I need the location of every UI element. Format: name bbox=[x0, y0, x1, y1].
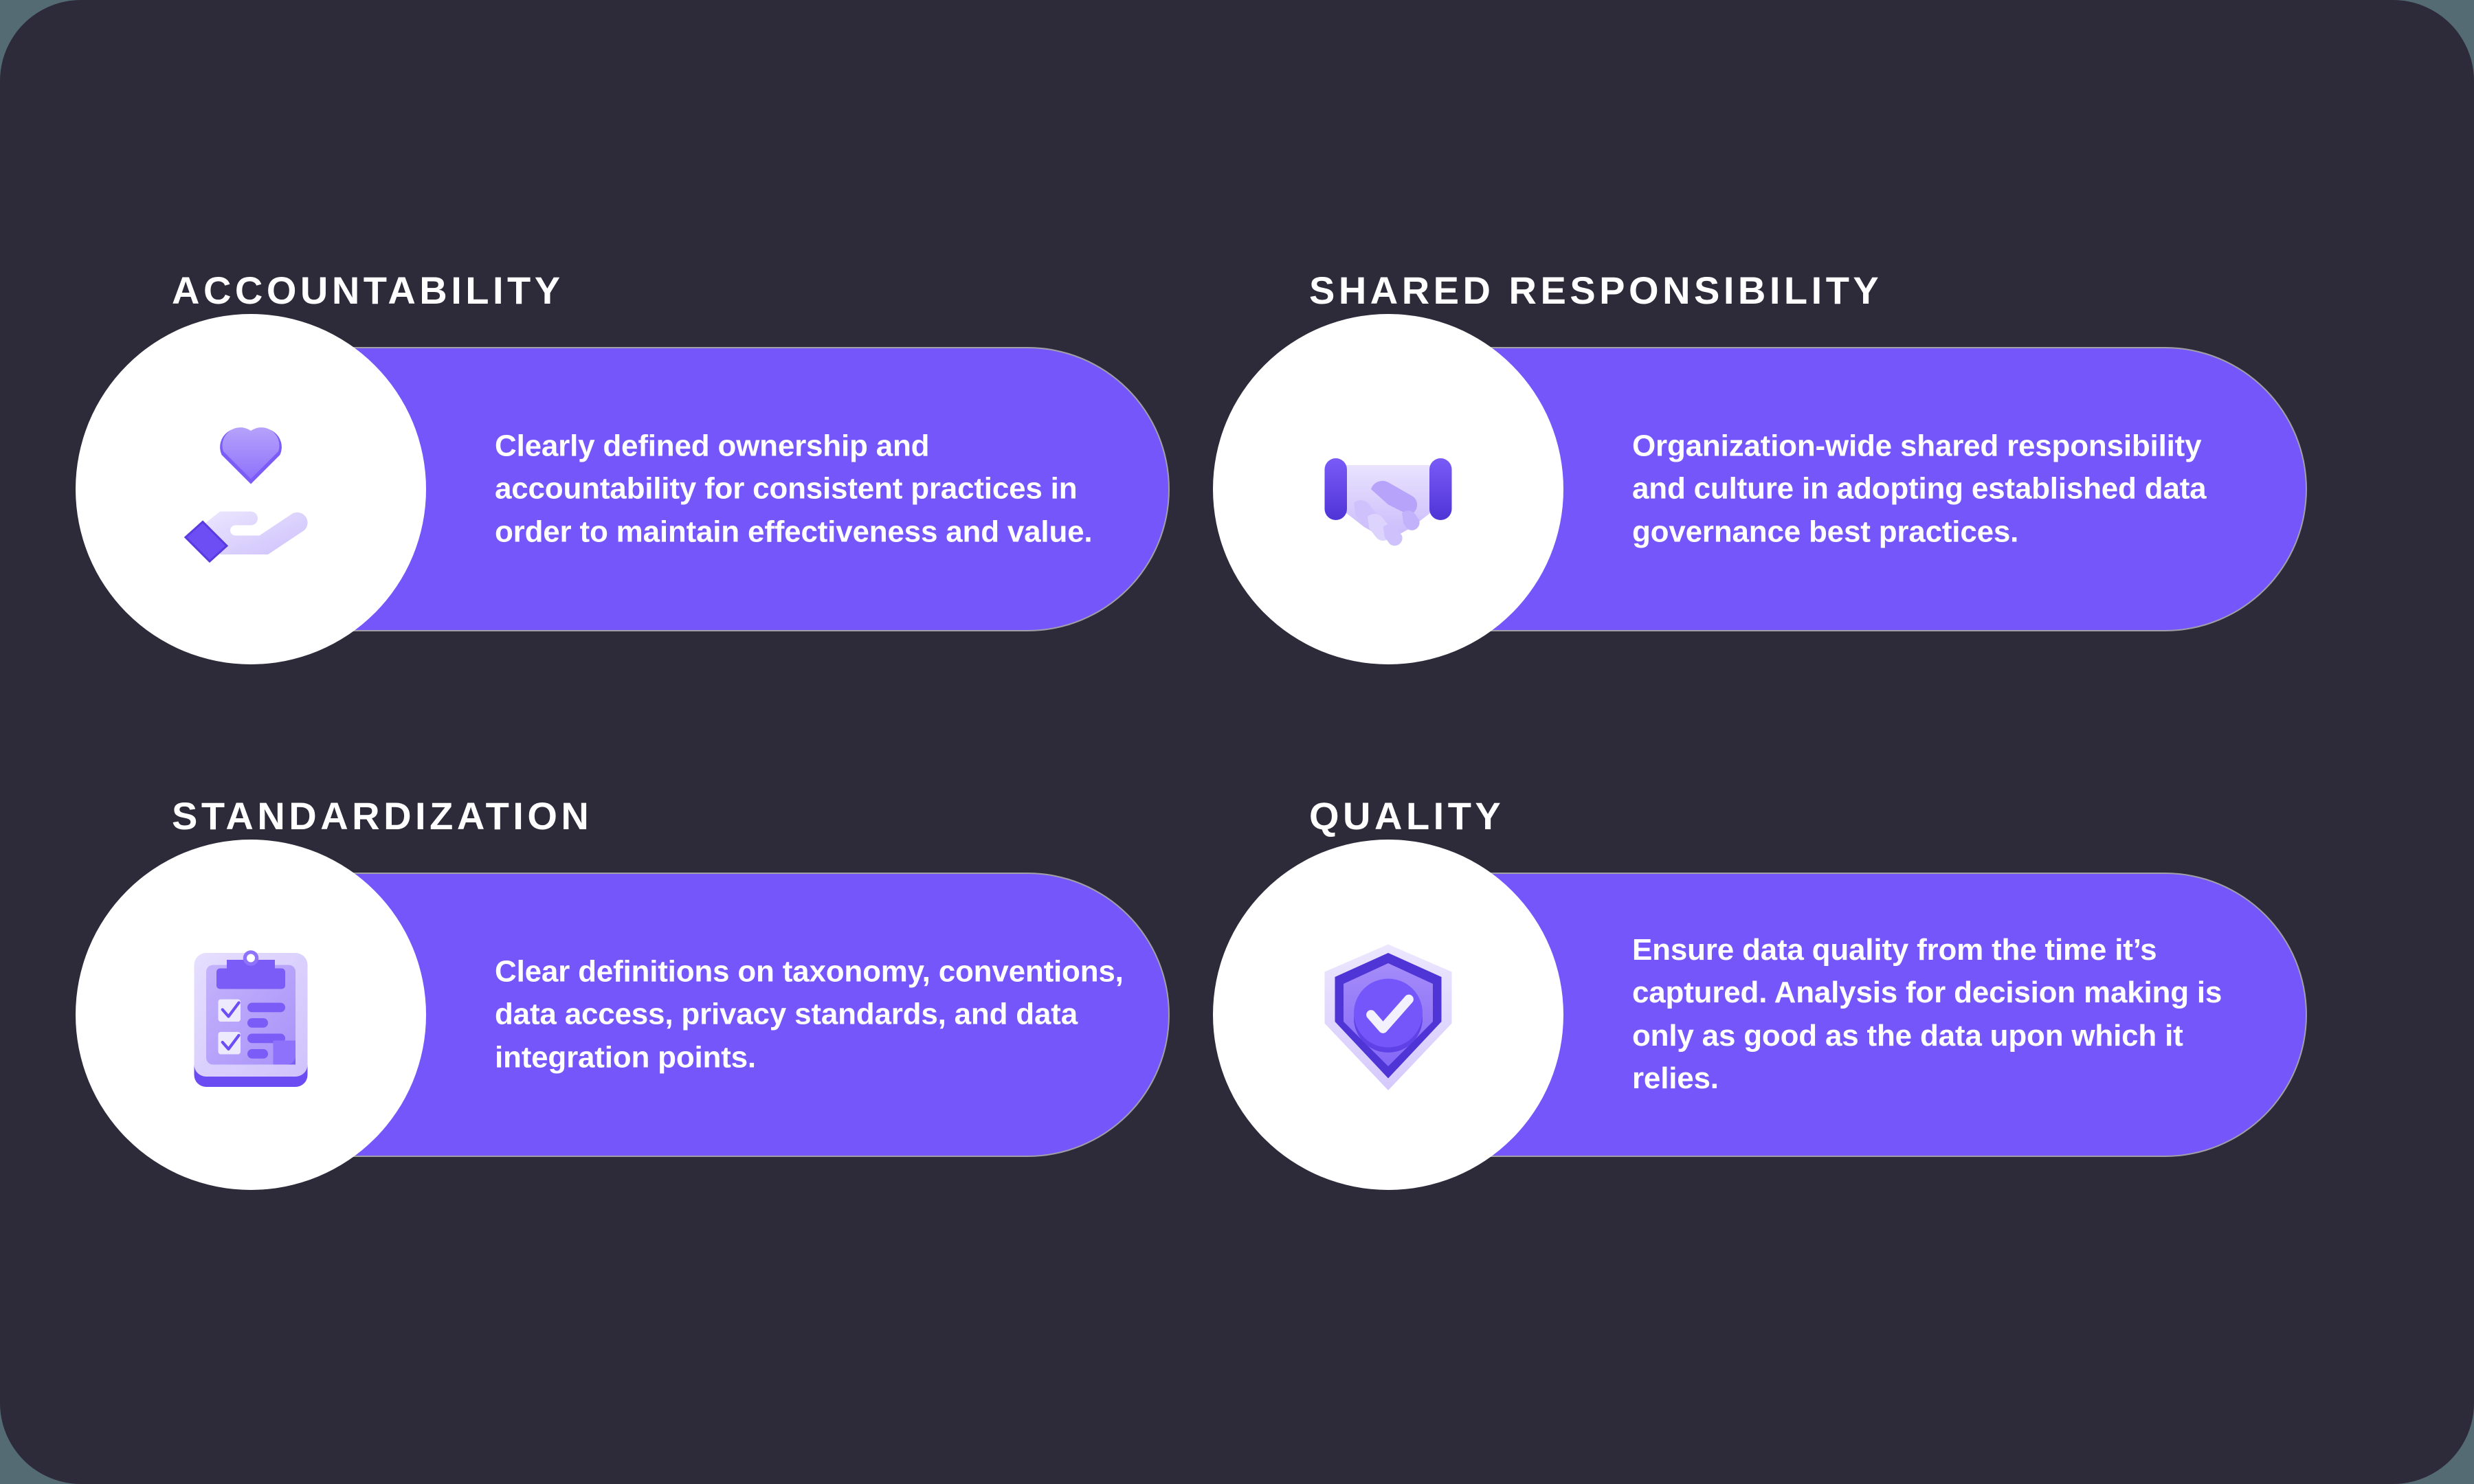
card-description: Ensure data quality from the time it’s c… bbox=[1632, 929, 2264, 1101]
card-accountability: ACCOUNTABILITY Clearly defined ownership… bbox=[172, 271, 564, 630]
card-title: STANDARDIZATION bbox=[172, 797, 592, 835]
card-description: Clearly defined ownership and accountabi… bbox=[495, 425, 1113, 553]
principles-grid: ACCOUNTABILITY Clearly defined ownership… bbox=[0, 0, 2474, 1484]
card-standardization: STANDARDIZATION Clear definitions on tax… bbox=[172, 797, 592, 1156]
icon-badge bbox=[1213, 840, 1563, 1190]
card-description: Organization-wide shared responsibility … bbox=[1632, 425, 2230, 553]
handshake-icon bbox=[1302, 403, 1474, 575]
card-body-pill: Clear definitions on taxonomy, conventio… bbox=[172, 874, 592, 1156]
card-body-pill: Organization-wide shared responsibility … bbox=[1309, 348, 1882, 630]
card-shared-responsibility: SHARED RESPONSIBILITY Organization-wide … bbox=[1309, 271, 1882, 630]
card-quality: QUALITY Ensure data quality from the tim… bbox=[1309, 797, 1504, 1156]
card-title: ACCOUNTABILITY bbox=[172, 271, 564, 310]
hand-holding-heart-icon bbox=[165, 403, 337, 575]
icon-badge bbox=[76, 840, 426, 1190]
card-description: Clear definitions on taxonomy, conventio… bbox=[495, 950, 1134, 1079]
card-title: QUALITY bbox=[1309, 797, 1504, 835]
icon-badge bbox=[1213, 314, 1563, 664]
icon-badge bbox=[76, 314, 426, 664]
card-body-pill: Clearly defined ownership and accountabi… bbox=[172, 348, 564, 630]
infographic-page: ACCOUNTABILITY Clearly defined ownership… bbox=[0, 0, 2474, 1484]
clipboard-checklist-icon bbox=[165, 929, 337, 1101]
shield-check-icon bbox=[1302, 929, 1474, 1101]
card-title: SHARED RESPONSIBILITY bbox=[1309, 271, 1882, 310]
card-body-pill: Ensure data quality from the time it’s c… bbox=[1309, 874, 1504, 1156]
